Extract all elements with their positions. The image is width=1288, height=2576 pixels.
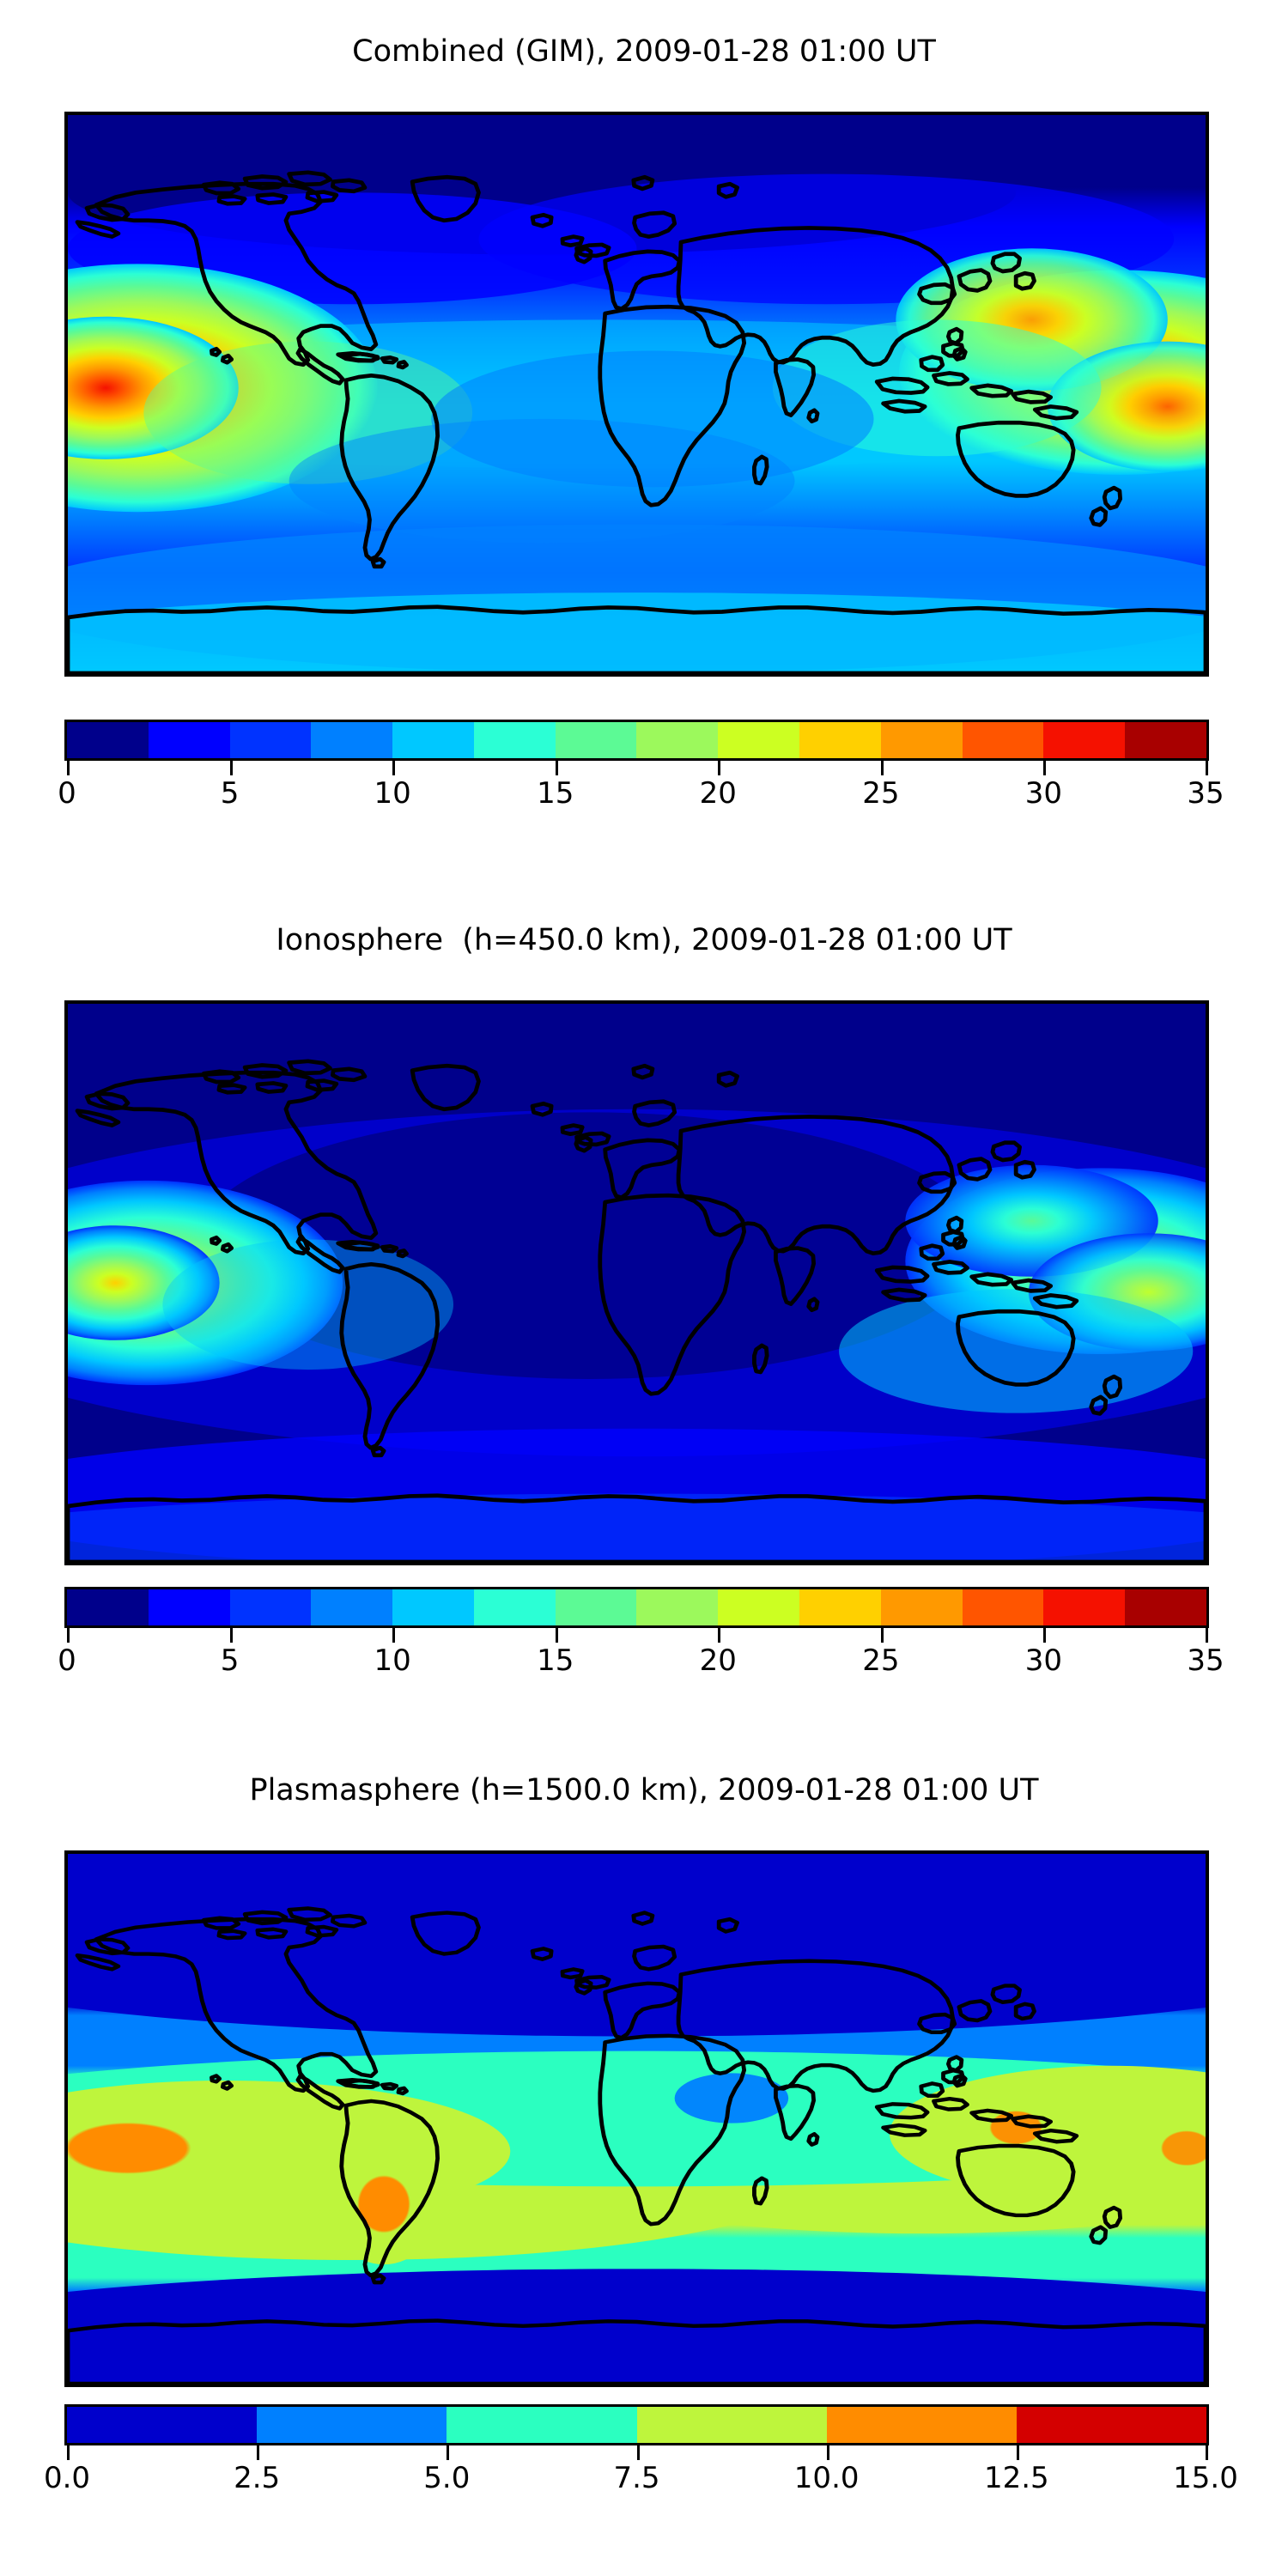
panel-title-combined-gim: Combined (GIM), 2009-01-28 01:00 UT — [0, 34, 1288, 69]
colorbar-bands-combined-gim — [64, 720, 1209, 761]
colorbar-tick-0 — [67, 1628, 70, 1643]
colorbar-band-2 — [230, 722, 312, 758]
colorbar-band-1 — [149, 722, 230, 758]
colorbar-tick-label-7: 35 — [1187, 1643, 1224, 1678]
colorbar-tick-6 — [1043, 1628, 1046, 1643]
colorbar-tick-6 — [1206, 2445, 1208, 2460]
colorbar-tick-7 — [1206, 1628, 1208, 1643]
colorbar-labels-ionosphere: 05101520253035 — [64, 1643, 1209, 1681]
colorbar-tick-label-1: 5 — [221, 776, 240, 811]
colorbar-band-6 — [556, 1589, 637, 1625]
colorbar-band-13 — [1125, 1589, 1206, 1625]
colorbar-band-0 — [67, 1589, 149, 1625]
colorbar-band-5 — [474, 722, 556, 758]
colorbar-tick-5 — [881, 761, 884, 775]
colorbar-band-10 — [881, 1589, 963, 1625]
colorbar-ticks-plasmasphere — [64, 2445, 1209, 2461]
colorbar-band-10 — [881, 722, 963, 758]
colorbar-labels-combined-gim: 05101520253035 — [64, 776, 1209, 814]
colorbar-tick-1 — [257, 2445, 259, 2460]
colorbar-combined-gim: 05101520253035 — [64, 720, 1209, 814]
colorbar-tick-1 — [230, 1628, 233, 1643]
colorbar-band-8 — [718, 722, 799, 758]
colorbar-band-13 — [1125, 722, 1206, 758]
map-ionosphere — [64, 1000, 1209, 1565]
colorbar-band-0 — [67, 722, 149, 758]
colorbar-tick-label-5: 25 — [862, 1643, 899, 1678]
colorbar-tick-2 — [392, 761, 395, 775]
colorbar-tick-label-1: 2.5 — [234, 2461, 280, 2495]
colorbar-tick-label-5: 12.5 — [984, 2461, 1049, 2495]
colorbar-band-4 — [392, 722, 474, 758]
map-canvas-ionosphere — [68, 1004, 1206, 1562]
colorbar-tick-label-0: 0 — [58, 1643, 76, 1678]
colorbar-tick-2 — [447, 2445, 449, 2460]
colorbar-tick-label-0: 0 — [58, 776, 76, 811]
colorbar-tick-label-7: 35 — [1187, 776, 1224, 811]
colorbar-tick-label-3: 15 — [537, 1643, 574, 1678]
colorbar-band-3 — [311, 1589, 392, 1625]
colorbar-tick-5 — [1017, 2445, 1019, 2460]
colorbar-tick-label-5: 25 — [862, 776, 899, 811]
colorbar-band-8 — [718, 1589, 799, 1625]
colorbar-ticks-combined-gim — [64, 761, 1209, 776]
colorbar-tick-label-6: 15.0 — [1173, 2461, 1238, 2495]
colorbar-band-11 — [963, 722, 1044, 758]
colorbar-plasmasphere: 0.02.55.07.510.012.515.0 — [64, 2404, 1209, 2499]
colorbar-band-9 — [799, 1589, 881, 1625]
colorbar-band-0 — [67, 2407, 257, 2443]
colorbar-tick-label-2: 5.0 — [423, 2461, 470, 2495]
colorbar-band-3 — [637, 2407, 827, 2443]
colorbar-tick-3 — [637, 2445, 640, 2460]
colorbar-tick-4 — [827, 2445, 829, 2460]
colorbar-band-2 — [447, 2407, 636, 2443]
colorbar-band-12 — [1043, 1589, 1125, 1625]
map-canvas-plasmasphere — [68, 1854, 1206, 2384]
colorbar-tick-3 — [556, 1628, 558, 1643]
colorbar-tick-0 — [67, 2445, 70, 2460]
colorbar-tick-label-2: 10 — [374, 1643, 411, 1678]
colorbar-bands-ionosphere — [64, 1587, 1209, 1628]
colorbar-tick-6 — [1043, 761, 1046, 775]
colorbar-band-1 — [149, 1589, 230, 1625]
colorbar-band-7 — [636, 1589, 718, 1625]
panel-plasmasphere: Plasmasphere (h=1500.0 km), 2009-01-28 0… — [0, 1739, 1288, 2576]
panel-ionosphere: Ionosphere (h=450.0 km), 2009-01-28 01:0… — [0, 889, 1288, 1747]
colorbar-band-5 — [1017, 2407, 1206, 2443]
colorbar-tick-label-3: 15 — [537, 776, 574, 811]
colorbar-tick-1 — [230, 761, 233, 775]
colorbar-tick-4 — [718, 761, 720, 775]
map-plasmasphere — [64, 1850, 1209, 2387]
colorbar-tick-0 — [67, 761, 70, 775]
panel-title-plasmasphere: Plasmasphere (h=1500.0 km), 2009-01-28 0… — [0, 1773, 1288, 1807]
colorbar-ionosphere: 05101520253035 — [64, 1587, 1209, 1681]
colorbar-tick-label-0: 0.0 — [44, 2461, 90, 2495]
colorbar-tick-3 — [556, 761, 558, 775]
colorbar-tick-2 — [392, 1628, 395, 1643]
colorbar-band-11 — [963, 1589, 1044, 1625]
colorbar-tick-label-6: 30 — [1025, 1643, 1062, 1678]
colorbar-band-6 — [556, 722, 637, 758]
colorbar-tick-label-3: 7.5 — [613, 2461, 659, 2495]
colorbar-tick-label-4: 20 — [700, 776, 737, 811]
colorbar-ticks-ionosphere — [64, 1628, 1209, 1643]
colorbar-band-7 — [636, 722, 718, 758]
colorbar-band-2 — [230, 1589, 312, 1625]
colorbar-bands-plasmasphere — [64, 2404, 1209, 2445]
colorbar-band-3 — [311, 722, 392, 758]
colorbar-band-9 — [799, 722, 881, 758]
colorbar-tick-label-4: 20 — [700, 1643, 737, 1678]
map-canvas-combined-gim — [68, 115, 1206, 673]
colorbar-band-4 — [827, 2407, 1017, 2443]
colorbar-tick-label-6: 30 — [1025, 776, 1062, 811]
panel-title-ionosphere: Ionosphere (h=450.0 km), 2009-01-28 01:0… — [0, 923, 1288, 957]
map-combined-gim — [64, 112, 1209, 677]
colorbar-tick-label-4: 10.0 — [794, 2461, 860, 2495]
colorbar-band-1 — [257, 2407, 447, 2443]
colorbar-tick-7 — [1206, 761, 1208, 775]
colorbar-tick-label-2: 10 — [374, 776, 411, 811]
colorbar-tick-5 — [881, 1628, 884, 1643]
panel-combined-gim: Combined (GIM), 2009-01-28 01:00 UT — [0, 0, 1288, 859]
colorbar-tick-label-1: 5 — [221, 1643, 240, 1678]
colorbar-band-4 — [392, 1589, 474, 1625]
colorbar-band-12 — [1043, 722, 1125, 758]
tec-figure: Combined (GIM), 2009-01-28 01:00 UT — [0, 0, 1288, 2576]
colorbar-labels-plasmasphere: 0.02.55.07.510.012.515.0 — [64, 2461, 1209, 2499]
colorbar-band-5 — [474, 1589, 556, 1625]
colorbar-tick-4 — [718, 1628, 720, 1643]
